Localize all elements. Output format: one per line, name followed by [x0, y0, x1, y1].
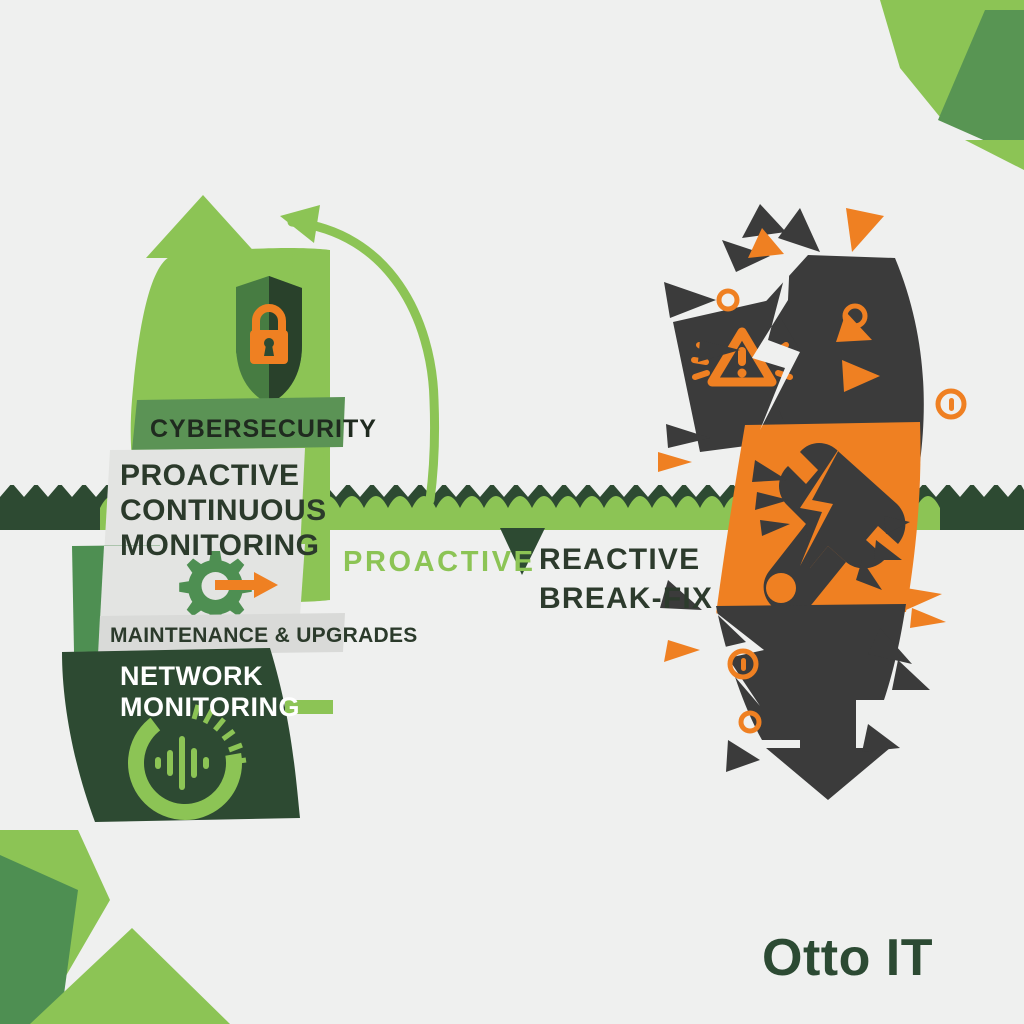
- divider-label-proactive: PROACTIVE: [343, 546, 536, 579]
- card-label-network-monitoring: NETWORK MONITORING: [120, 661, 300, 723]
- brand-wordmark: Otto IT: [762, 928, 933, 988]
- card-label-maintenance-upgrades: MAINTENANCE & UPGRADES: [110, 624, 418, 648]
- divider-label-reactive-break-fix: REACTIVE BREAK-FIX: [539, 540, 713, 618]
- infographic-canvas: CYBERSECURITY PROACTIVE CONTINUOUS MONIT…: [0, 0, 1024, 1024]
- card-label-cybersecurity: CYBERSECURITY: [150, 415, 377, 444]
- card-label-proactive-continuous-monitoring: PROACTIVE CONTINUOUS MONITORING: [120, 458, 327, 563]
